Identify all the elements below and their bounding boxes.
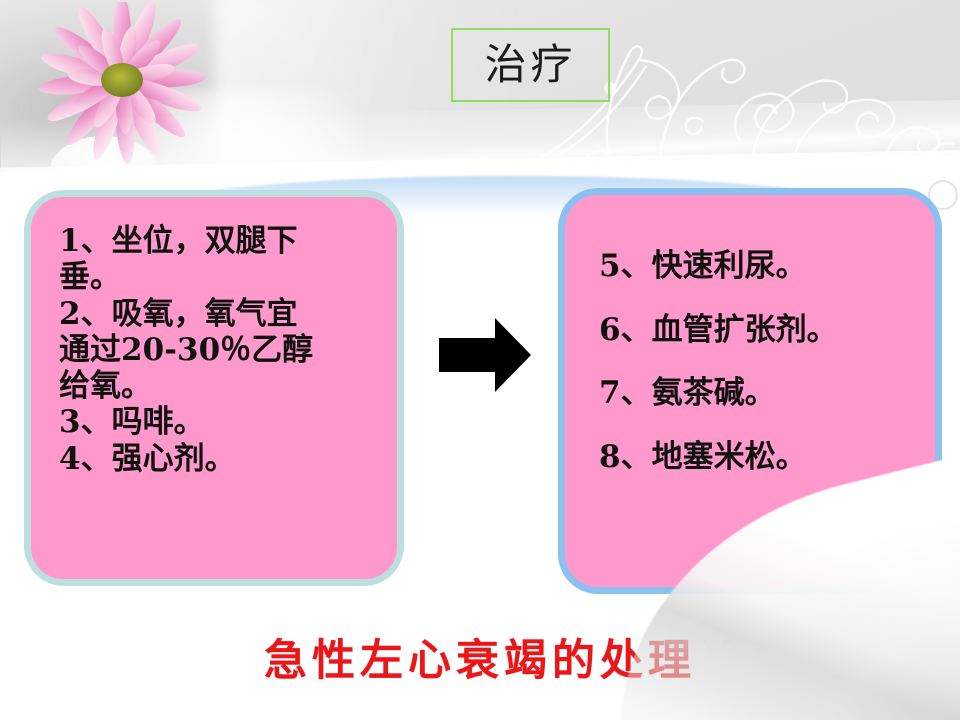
page-title: 治疗 bbox=[484, 44, 576, 86]
list-item: 6、血管扩张剂。 bbox=[599, 299, 917, 363]
left-text-block: 1、坐位，双腿下 垂。 2、吸氧，氧气宜 通过20-30％乙醇 给氧。 3、吗啡… bbox=[59, 223, 379, 477]
list-item: 3、吗啡。 bbox=[59, 404, 379, 440]
list-item: 通过20-30％乙醇 bbox=[59, 332, 379, 368]
list-item: 7、氨茶碱。 bbox=[599, 362, 917, 426]
left-content-box: 1、坐位，双腿下 垂。 2、吸氧，氧气宜 通过20-30％乙醇 给氧。 3、吗啡… bbox=[24, 190, 404, 586]
list-item: 给氧。 bbox=[59, 368, 379, 404]
slide-canvas: 治疗 1、坐位，双腿下 垂。 2、吸氧，氧气宜 通过20-30％乙醇 给氧。 3… bbox=[0, 0, 960, 720]
list-item: 2、吸氧，氧气宜 bbox=[59, 296, 379, 332]
title-box: 治疗 bbox=[451, 28, 610, 102]
flow-arrow bbox=[437, 316, 533, 394]
left-content-inner: 1、坐位，双腿下 垂。 2、吸氧，氧气宜 通过20-30％乙醇 给氧。 3、吗啡… bbox=[31, 197, 397, 579]
page-fold-shadow bbox=[700, 520, 960, 720]
arrow-right-icon bbox=[437, 316, 533, 394]
right-text-block: 5、快速利尿。 6、血管扩张剂。 7、氨茶碱。 8、地塞米松。 bbox=[599, 235, 917, 489]
list-item: 1、坐位，双腿下 bbox=[59, 223, 379, 259]
list-item: 5、快速利尿。 bbox=[599, 235, 917, 299]
list-item: 垂。 bbox=[59, 259, 379, 295]
list-item: 4、强心剂。 bbox=[59, 441, 379, 477]
